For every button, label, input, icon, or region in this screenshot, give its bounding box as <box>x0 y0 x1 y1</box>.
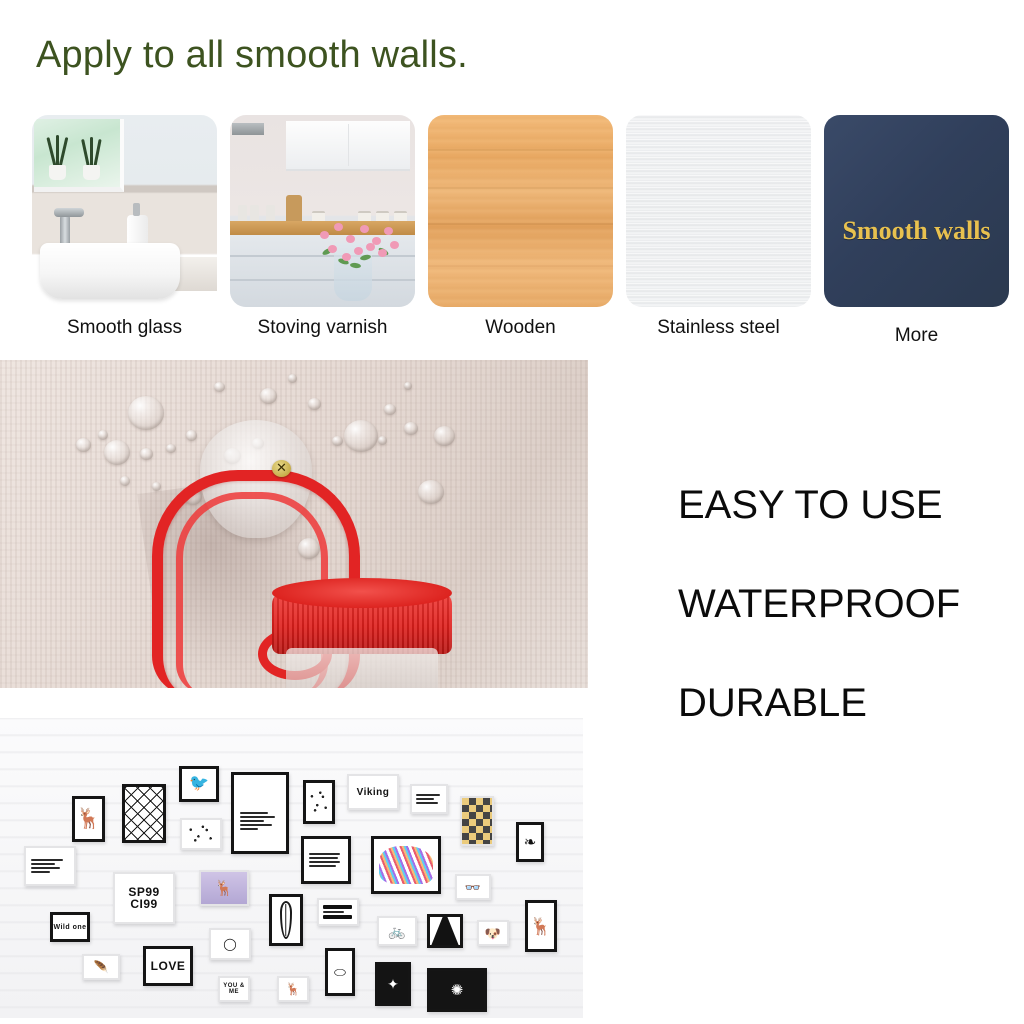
picture-frame: ⬭ <box>325 948 355 996</box>
kitchen-photo-thumbnail <box>230 115 415 307</box>
picture-frame: YOU & ME <box>218 976 250 1002</box>
picture-frame: ✦ <box>375 962 411 1006</box>
picture-frame: 🦌 <box>199 870 249 906</box>
hook-demo-photo <box>0 360 588 688</box>
frame-art-deer-head: 🦌 <box>75 799 102 839</box>
frame-art-rune-text <box>304 839 348 881</box>
surface-label: Stainless steel <box>626 317 811 339</box>
picture-frame: Viking <box>347 774 399 810</box>
water-droplet <box>308 398 321 410</box>
picture-frame <box>371 836 441 894</box>
water-droplet <box>104 440 130 465</box>
upper-cabinets-graphic <box>286 121 410 171</box>
picture-frame: 🦌 <box>72 796 105 842</box>
picture-frame <box>410 784 448 814</box>
picture-frame: ✺ <box>427 968 487 1012</box>
picture-frame: 👓 <box>455 874 491 900</box>
range-hood-icon <box>232 123 264 135</box>
water-droplet <box>332 436 343 446</box>
frame-art-love-arrows: LOVE <box>146 949 190 983</box>
picture-frame <box>317 898 359 926</box>
picture-frame <box>122 784 166 843</box>
picture-frame <box>269 894 303 946</box>
water-droplet <box>418 480 444 504</box>
feature-easy-to-use: EASY TO USE <box>678 482 1014 528</box>
water-droplet <box>288 374 297 383</box>
gallery-wall-photo: 🦌 🐦 Viking ❧ <box>0 718 583 1018</box>
water-droplet <box>98 430 108 440</box>
frame-art-pine-tree <box>430 917 460 945</box>
frame-art-dot-sketch <box>182 820 220 848</box>
picture-frame: ◯ <box>209 928 251 960</box>
feature-waterproof: WATERPROOF <box>678 581 1014 627</box>
frame-art-branch: ❧ <box>519 825 541 859</box>
surface-label: Wooden <box>428 317 613 339</box>
frame-text: LOVE <box>151 959 186 973</box>
frame-art-wild-one: Wild one <box>53 915 87 939</box>
feature-durable: DURABLE <box>678 680 1014 726</box>
frame-text: YOU & ME <box>220 983 248 995</box>
surface-item-stainless-steel[interactable]: Stainless steel <box>626 115 811 339</box>
page-title: Apply to all smooth walls. <box>36 33 468 77</box>
window-graphic <box>34 119 124 192</box>
picture-frame <box>303 780 335 824</box>
water-droplet <box>152 482 161 491</box>
water-droplet <box>166 444 176 453</box>
picture-frame <box>24 846 76 886</box>
frame-art-doodle-art: ✺ <box>430 971 484 1009</box>
surface-item-smooth-glass[interactable]: Smooth glass <box>32 115 217 339</box>
surface-item-wooden[interactable]: Wooden <box>428 115 613 339</box>
flower-bouquet-graphic <box>316 219 402 267</box>
picture-frame: SP99 CI99 <box>113 872 175 924</box>
water-droplet <box>120 476 130 486</box>
picture-frame: 🦌 <box>525 900 557 952</box>
navy-tile-caption: Smooth walls <box>842 216 990 246</box>
frame-text: Wild one <box>53 924 86 931</box>
frame-text: SP99 CI99 <box>115 886 173 910</box>
water-droplet <box>384 404 396 415</box>
water-droplet <box>140 448 153 460</box>
bottle-cap-top <box>272 578 452 608</box>
picture-frame <box>180 818 222 850</box>
frame-art-oval-frame: ⬭ <box>328 951 352 993</box>
water-droplet <box>186 430 197 441</box>
frame-art-dog-face: 🐶 <box>479 922 507 944</box>
frame-art-bicycle: 🚲 <box>379 918 415 944</box>
screw-icon <box>272 460 291 477</box>
sink-graphic <box>40 243 180 299</box>
picture-frame: ❧ <box>516 822 544 862</box>
surface-label: Smooth glass <box>32 317 217 339</box>
frame-art-color-checker <box>462 798 492 844</box>
water-droplet <box>260 388 277 404</box>
water-droplet <box>404 422 418 435</box>
water-droplet <box>128 396 164 430</box>
frame-art-you-and-me: YOU & ME <box>220 978 248 1000</box>
plant-leaf-icon <box>90 137 93 167</box>
water-droplet <box>214 382 225 392</box>
frame-art-diamond-pattern <box>125 787 163 840</box>
frame-art-zebra <box>374 839 438 891</box>
picture-frame: 🐶 <box>477 920 509 946</box>
frame-art-abstract-dots <box>306 783 332 821</box>
picture-frame <box>460 796 494 846</box>
frame-art-script-note <box>26 848 74 884</box>
picture-frame <box>427 914 463 948</box>
picture-frame: LOVE <box>143 946 193 986</box>
frame-art-forest-deer: 🦌 <box>201 872 247 904</box>
water-droplet <box>404 382 412 390</box>
frame-art-barcode-text <box>319 900 357 924</box>
frame-art-circles-logo: SP99 CI99 <box>115 874 173 922</box>
picture-frame <box>231 772 289 854</box>
water-droplet <box>434 426 455 446</box>
frame-art-brush-strokes: ✦ <box>378 965 408 1003</box>
frame-art-text-block <box>412 786 446 812</box>
picture-frame: 🚲 <box>377 916 417 946</box>
surface-item-stoving-varnish[interactable]: Stoving varnish <box>230 115 415 339</box>
frame-art-circle-note: ◯ <box>211 930 249 958</box>
picture-frame: 🦌 <box>277 976 309 1002</box>
water-droplet <box>344 420 378 452</box>
frame-art-feather: 🪶 <box>84 956 118 978</box>
frame-art-small-deer: 🦌 <box>279 978 307 1000</box>
picture-frame: 🐦 <box>179 766 219 802</box>
frame-art-viking-logo: Viking <box>349 776 397 808</box>
frame-art-deer-geometric: 🦌 <box>528 903 554 949</box>
frame-art-bird: 🐦 <box>182 769 216 799</box>
frame-art-antler-quote <box>234 775 286 851</box>
surface-label: Stoving varnish <box>230 317 415 339</box>
picture-frame: Wild one <box>50 912 90 942</box>
steel-swatch-thumbnail <box>626 115 811 307</box>
navy-swatch-thumbnail: Smooth walls <box>824 115 1009 307</box>
frame-text: Viking <box>357 787 390 798</box>
picture-frame <box>301 836 351 884</box>
frame-art-leaf <box>272 897 300 943</box>
water-droplet <box>378 436 387 445</box>
surface-label: More <box>824 325 1009 347</box>
wood-swatch-thumbnail <box>428 115 613 307</box>
surface-types-strip: Smooth glass <box>32 115 1022 355</box>
bathroom-photo-thumbnail <box>32 115 217 307</box>
feature-list: EASY TO USE WATERPROOF DURABLE <box>678 482 1014 726</box>
frame-art-mustache-glasses: 👓 <box>457 876 489 898</box>
water-droplet <box>76 438 91 452</box>
picture-frame: 🪶 <box>82 954 120 980</box>
bottle-body <box>286 648 438 688</box>
plant-pot-icon <box>83 165 100 180</box>
plant-pot-icon <box>49 165 66 180</box>
surface-item-more[interactable]: Smooth walls More <box>824 115 1009 347</box>
